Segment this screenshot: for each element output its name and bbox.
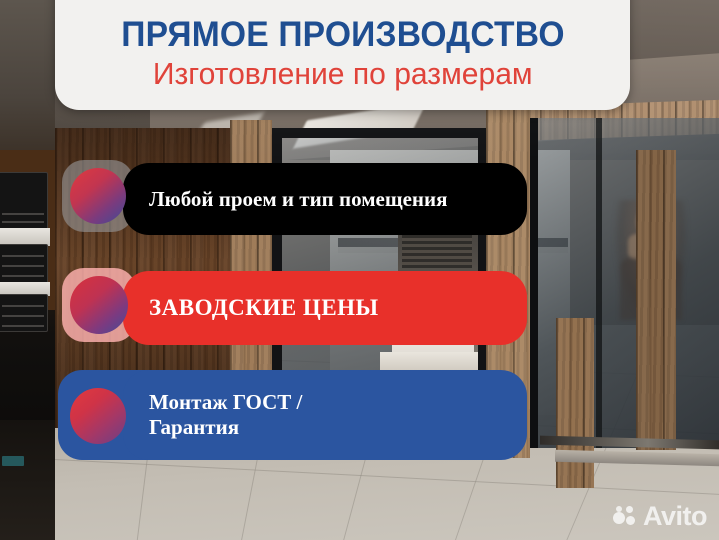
avito-brand-label: Avito bbox=[643, 503, 707, 530]
gradient-circle-icon bbox=[70, 276, 128, 334]
feature-3-label: Монтаж ГОСТ / Гарантия bbox=[123, 390, 302, 440]
feature-2-pill[interactable]: ЗАВОДСКИЕ ЦЕНЫ bbox=[123, 271, 527, 345]
page-title: ПРЯМОЕ ПРОИЗВОДСТВО bbox=[121, 17, 564, 53]
left-strip-shadow-base bbox=[0, 420, 55, 540]
photo-wood-column-d bbox=[636, 150, 676, 450]
photo-door-right-frame bbox=[530, 118, 538, 448]
left-photo-strip bbox=[0, 0, 55, 540]
feature-2-label: ЗАВОДСКИЕ ЦЕНЫ bbox=[123, 294, 379, 321]
feature-1-pill[interactable]: Любой проем и тип помещения bbox=[123, 163, 527, 235]
photo-door-frame-top bbox=[272, 128, 488, 138]
left-strip-panel-2 bbox=[0, 244, 48, 284]
avito-watermark: Avito bbox=[613, 503, 707, 530]
feature-1-label: Любой проем и тип помещения bbox=[123, 187, 447, 212]
ad-creative-canvas: ПРЯМОЕ ПРОИЗВОДСТВО Изготовление по разм… bbox=[0, 0, 719, 540]
left-strip-teal-object bbox=[2, 456, 24, 466]
avito-dots-logo bbox=[613, 506, 637, 528]
gradient-circle-icon bbox=[70, 168, 126, 224]
feature-3-pill[interactable]: Монтаж ГОСТ / Гарантия bbox=[123, 370, 527, 460]
header-card: ПРЯМОЕ ПРОИЗВОДСТВО Изготовление по разм… bbox=[55, 0, 630, 110]
gradient-circle-icon bbox=[70, 388, 126, 444]
photo-door-right-mullion bbox=[596, 118, 602, 448]
page-subtitle: Изготовление по размерам bbox=[153, 57, 533, 91]
photo-counter-base bbox=[380, 352, 490, 370]
left-strip-panel-1 bbox=[0, 172, 48, 230]
left-strip-panel-3 bbox=[0, 294, 48, 332]
